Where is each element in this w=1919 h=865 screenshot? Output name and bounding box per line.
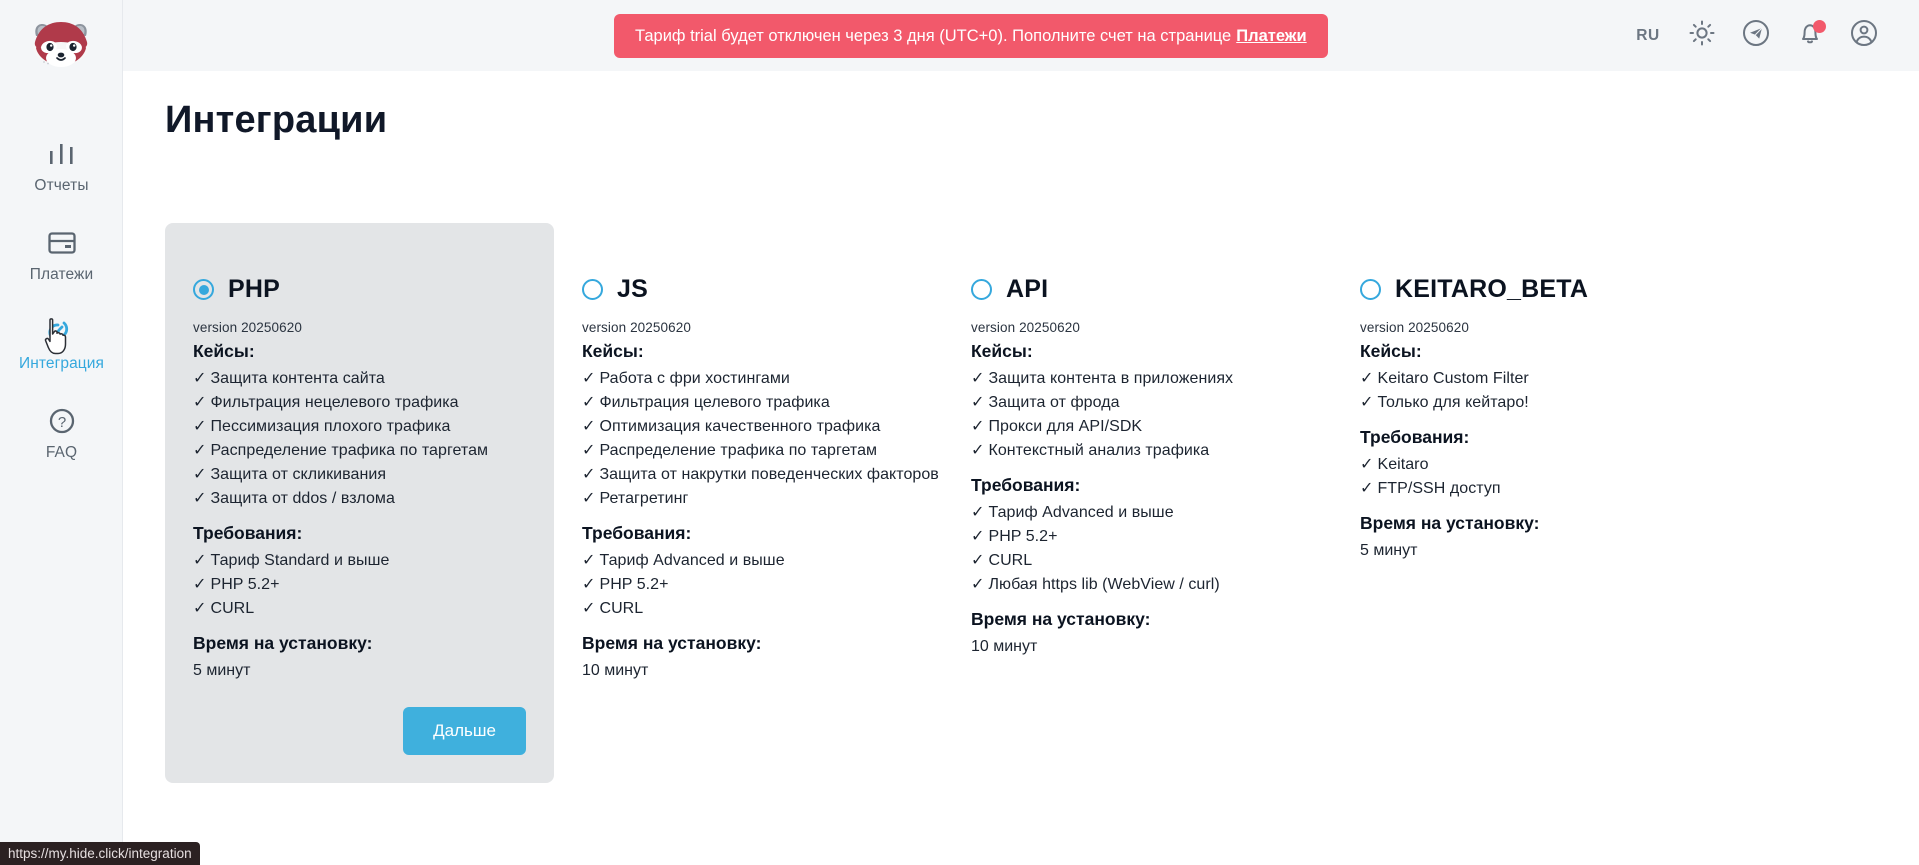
sidebar-item-label: Интеграция — [19, 355, 104, 373]
feature-item: ✓Только для кейтаро! — [1360, 391, 1693, 415]
main-content: Интеграции PHPversion 20250620Кейсы:✓Защ… — [123, 71, 1919, 865]
card-version: version 20250620 — [1360, 320, 1693, 335]
cases-title: Кейсы: — [971, 341, 1304, 362]
radio-button[interactable] — [1360, 279, 1381, 300]
feature-label: CURL — [988, 552, 1032, 569]
svg-text:?: ? — [57, 414, 65, 431]
card-icon — [46, 228, 78, 259]
card-header: KEITARO_BETA — [1360, 275, 1693, 304]
app-root: Отчеты Платежи Интеграция — [0, 0, 1919, 865]
sidebar-item-payments[interactable]: Платежи — [0, 211, 123, 300]
check-icon: ✓ — [582, 418, 595, 435]
feature-item: ✓CURL — [193, 597, 526, 621]
install-time-value: 10 минут — [971, 635, 1304, 659]
card-header: PHP — [193, 275, 526, 304]
card-version: version 20250620 — [971, 320, 1304, 335]
install-time-title: Время на установку: — [193, 633, 526, 654]
radio-button[interactable] — [582, 279, 603, 300]
feature-item: ✓Keitaro Custom Filter — [1360, 367, 1693, 391]
card-title: API — [1006, 275, 1048, 304]
card-title: JS — [617, 275, 648, 304]
check-icon: ✓ — [193, 442, 206, 459]
feature-item: ✓Пессимизация плохого трафика — [193, 415, 526, 439]
notifications-button[interactable] — [1783, 9, 1837, 63]
feature-label: Только для кейтаро! — [1377, 394, 1528, 411]
feature-label: Фильтрация нецелевого трафика — [210, 394, 458, 411]
radio-button[interactable] — [193, 279, 214, 300]
feature-item: ✓Распределение трафика по таргетам — [582, 439, 915, 463]
feature-label: Распределение трафика по таргетам — [599, 442, 877, 459]
check-icon: ✓ — [1360, 480, 1373, 497]
card-title: PHP — [228, 275, 280, 304]
feature-label: Работа с фри хостингами — [599, 370, 789, 387]
sidebar-item-label: Отчеты — [34, 177, 88, 195]
integration-card[interactable]: APIversion 20250620Кейсы:✓Защита контент… — [943, 223, 1332, 783]
sidebar-item-integration[interactable]: Интеграция — [0, 300, 123, 389]
check-icon: ✓ — [971, 442, 984, 459]
check-icon: ✓ — [971, 576, 984, 593]
next-button[interactable]: Дальше — [403, 707, 526, 755]
brand-logo[interactable] — [0, 0, 122, 86]
install-time-value: 5 минут — [1360, 539, 1693, 563]
radio-button[interactable] — [971, 279, 992, 300]
feature-label: Ретагретинг — [599, 490, 688, 507]
feature-label: Пессимизация плохого трафика — [210, 418, 450, 435]
integration-card[interactable]: PHPversion 20250620Кейсы:✓Защита контент… — [165, 223, 554, 783]
feature-label: Защита контента в приложениях — [988, 370, 1233, 387]
feature-item: ✓Фильтрация нецелевого трафика — [193, 391, 526, 415]
feature-label: Защита от накрутки поведенческих факторо… — [599, 466, 938, 483]
feature-label: PHP 5.2+ — [599, 576, 668, 593]
card-version: version 20250620 — [582, 320, 915, 335]
feature-label: Оптимизация качественного трафика — [599, 418, 880, 435]
feature-label: FTP/SSH доступ — [1377, 480, 1500, 497]
sidebar-item-label: FAQ — [46, 444, 77, 462]
feature-label: Фильтрация целевого трафика — [599, 394, 829, 411]
feature-item: ✓Тариф Advanced и выше — [582, 549, 915, 573]
feature-label: PHP 5.2+ — [988, 528, 1057, 545]
check-icon: ✓ — [582, 490, 595, 507]
feature-label: Защита от ddos / взлома — [210, 490, 394, 507]
check-icon: ✓ — [582, 394, 595, 411]
check-icon: ✓ — [582, 466, 595, 483]
requirements-title: Требования: — [971, 475, 1304, 496]
install-time-title: Время на установку: — [971, 609, 1304, 630]
install-time-value: 10 минут — [582, 659, 915, 683]
check-icon: ✓ — [193, 600, 206, 617]
telegram-icon — [1742, 19, 1770, 52]
sidebar-item-faq[interactable]: ? FAQ — [0, 389, 123, 478]
trial-alert-banner: Тариф trial будет отключен через 3 дня (… — [614, 14, 1328, 58]
feature-item: ✓Работа с фри хостингами — [582, 367, 915, 391]
feature-label: Любая https lib (WebView / curl) — [988, 576, 1219, 593]
install-time-title: Время на установку: — [1360, 513, 1693, 534]
feature-item: ✓Распределение трафика по таргетам — [193, 439, 526, 463]
notification-badge — [1813, 20, 1826, 33]
feature-item: ✓Прокси для API/SDK — [971, 415, 1304, 439]
link-icon — [46, 317, 78, 348]
card-version: version 20250620 — [193, 320, 526, 335]
check-icon: ✓ — [1360, 394, 1373, 411]
check-icon: ✓ — [971, 418, 984, 435]
integration-card[interactable]: JSversion 20250620Кейсы:✓Работа с фри хо… — [554, 223, 943, 783]
feature-label: Контекстный анализ трафика — [988, 442, 1209, 459]
check-icon: ✓ — [971, 394, 984, 411]
user-circle-icon — [1850, 19, 1878, 52]
check-icon: ✓ — [193, 490, 206, 507]
feature-item: ✓PHP 5.2+ — [193, 573, 526, 597]
feature-item: ✓Защита от скликивания — [193, 463, 526, 487]
integration-card[interactable]: KEITARO_BETAversion 20250620Кейсы:✓Keita… — [1332, 223, 1721, 783]
check-icon: ✓ — [1360, 456, 1373, 473]
feature-item: ✓Фильтрация целевого трафика — [582, 391, 915, 415]
feature-label: CURL — [599, 600, 643, 617]
feature-item: ✓Оптимизация качественного трафика — [582, 415, 915, 439]
alert-payments-link[interactable]: Платежи — [1236, 27, 1306, 46]
check-icon: ✓ — [193, 394, 206, 411]
question-circle-icon: ? — [46, 406, 78, 437]
feature-item: ✓Тариф Standard и выше — [193, 549, 526, 573]
card-title: KEITARO_BETA — [1395, 275, 1588, 304]
feature-item: ✓CURL — [971, 549, 1304, 573]
topbar: Тариф trial будет отключен через 3 дня (… — [123, 0, 1919, 71]
card-header: JS — [582, 275, 915, 304]
feature-item: ✓Защита от накрутки поведенческих фактор… — [582, 463, 915, 487]
bar-chart-icon — [46, 139, 78, 170]
requirements-title: Требования: — [193, 523, 526, 544]
card-header: API — [971, 275, 1304, 304]
feature-label: CURL — [210, 600, 254, 617]
feature-label: Тариф Advanced и выше — [599, 552, 784, 569]
sidebar-item-label: Платежи — [30, 266, 94, 284]
install-time-value: 5 минут — [193, 659, 526, 683]
alert-text: Тариф trial будет отключен через 3 дня (… — [635, 27, 1231, 46]
sidebar: Отчеты Платежи Интеграция — [0, 0, 123, 865]
feature-label: Keitaro — [1377, 456, 1428, 473]
feature-label: Защита контента сайта — [210, 370, 384, 387]
cases-title: Кейсы: — [582, 341, 915, 362]
feature-label: Тариф Advanced и выше — [988, 504, 1173, 521]
page-title: Интеграции — [165, 99, 387, 142]
feature-item: ✓Keitaro — [1360, 453, 1693, 477]
check-icon: ✓ — [193, 418, 206, 435]
feature-item: ✓Защита от фрода — [971, 391, 1304, 415]
feature-label: Распределение трафика по таргетам — [210, 442, 488, 459]
check-icon: ✓ — [582, 576, 595, 593]
telegram-button[interactable] — [1729, 9, 1783, 63]
raccoon-logo-icon — [30, 18, 92, 68]
check-icon: ✓ — [971, 504, 984, 521]
feature-item: ✓FTP/SSH доступ — [1360, 477, 1693, 501]
integration-cards-list: PHPversion 20250620Кейсы:✓Защита контент… — [165, 223, 1885, 783]
check-icon: ✓ — [582, 552, 595, 569]
feature-item: ✓Любая https lib (WebView / curl) — [971, 573, 1304, 597]
feature-label: PHP 5.2+ — [210, 576, 279, 593]
sun-icon — [1689, 20, 1715, 51]
check-icon: ✓ — [582, 600, 595, 617]
feature-item: ✓Защита от ddos / взлома — [193, 487, 526, 511]
check-icon: ✓ — [582, 370, 595, 387]
browser-status-url: https://my.hide.click/integration — [0, 842, 200, 865]
requirements-title: Требования: — [1360, 427, 1693, 448]
check-icon: ✓ — [971, 528, 984, 545]
check-icon: ✓ — [193, 576, 206, 593]
feature-item: ✓Защита контента сайта — [193, 367, 526, 391]
theme-toggle-button[interactable] — [1675, 9, 1729, 63]
feature-item: ✓Контекстный анализ трафика — [971, 439, 1304, 463]
check-icon: ✓ — [971, 370, 984, 387]
check-icon: ✓ — [1360, 370, 1373, 387]
feature-label: Keitaro Custom Filter — [1377, 370, 1528, 387]
feature-label: Защита от скликивания — [210, 466, 386, 483]
feature-item: ✓CURL — [582, 597, 915, 621]
next-button-row: Дальше — [193, 707, 526, 755]
feature-label: Тариф Standard и выше — [210, 552, 389, 569]
check-icon: ✓ — [193, 466, 206, 483]
check-icon: ✓ — [193, 552, 206, 569]
language-switcher[interactable]: RU — [1621, 9, 1675, 63]
feature-item: ✓PHP 5.2+ — [582, 573, 915, 597]
feature-item: ✓Защита контента в приложениях — [971, 367, 1304, 391]
cases-title: Кейсы: — [193, 341, 526, 362]
check-icon: ✓ — [971, 552, 984, 569]
check-icon: ✓ — [582, 442, 595, 459]
cases-title: Кейсы: — [1360, 341, 1693, 362]
feature-item: ✓Тариф Advanced и выше — [971, 501, 1304, 525]
requirements-title: Требования: — [582, 523, 915, 544]
feature-label: Прокси для API/SDK — [988, 418, 1142, 435]
install-time-title: Время на установку: — [582, 633, 915, 654]
sidebar-item-reports[interactable]: Отчеты — [0, 122, 123, 211]
user-account-button[interactable] — [1837, 9, 1891, 63]
check-icon: ✓ — [193, 370, 206, 387]
feature-label: Защита от фрода — [988, 394, 1119, 411]
feature-item: ✓PHP 5.2+ — [971, 525, 1304, 549]
feature-item: ✓Ретагретинг — [582, 487, 915, 511]
